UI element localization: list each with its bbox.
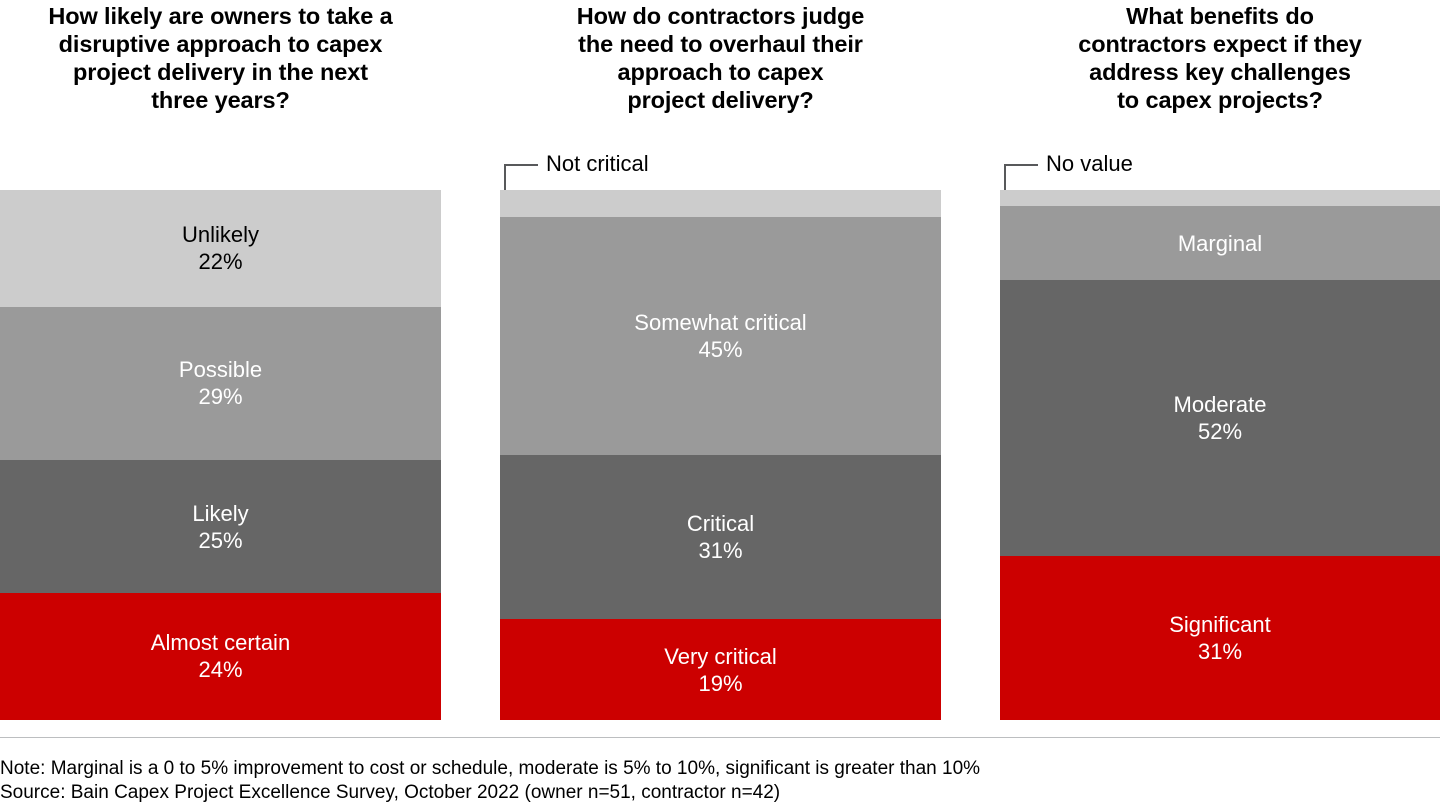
chart-page: How likely are owners to take a disrupti…: [0, 0, 1440, 810]
footer: Note: Marginal is a 0 to 5% improvement …: [0, 757, 1440, 805]
bar-segment: Very critical19%: [500, 619, 941, 720]
bar-segment: Somewhat critical45%: [500, 217, 941, 456]
bar-segment-label: Almost certain: [151, 629, 290, 656]
footnote-source: Source: Bain Capex Project Excellence Su…: [0, 781, 1440, 805]
panel-title-2: How do contractors judge the need to ove…: [500, 0, 941, 114]
bar-segment-value: 31%: [1198, 638, 1242, 665]
bar-segment: Almost certain24%: [0, 593, 441, 720]
panel-contractors-overhaul: How do contractors judge the need to ove…: [500, 0, 941, 722]
bar-segment: Likely25%: [0, 460, 441, 593]
bar-segment-label: Very critical: [664, 643, 776, 670]
stacked-bar-2: Somewhat critical45%Critical31%Very crit…: [500, 190, 941, 720]
bar-segment-label: Somewhat critical: [634, 309, 806, 336]
panel-owners-disruptive: How likely are owners to take a disrupti…: [0, 0, 441, 722]
bar-segment-value: 52%: [1198, 418, 1242, 445]
bar-segment: Possible29%: [0, 307, 441, 461]
bar-segment: Marginal: [1000, 206, 1440, 280]
bar-segment-value: 24%: [198, 656, 242, 683]
bar-segment-value: 19%: [698, 670, 742, 697]
callout-label-no-value: No value: [1046, 151, 1133, 177]
bar-segment-value: 25%: [198, 527, 242, 554]
bar-segment: Unlikely22%: [0, 190, 441, 307]
callout-label-not-critical: Not critical: [546, 151, 649, 177]
bar-segment: Critical31%: [500, 455, 941, 619]
bar-segment: [1000, 190, 1440, 206]
bar-segment: Significant31%: [1000, 556, 1440, 720]
panel-contractor-benefits: What benefits do contractors expect if t…: [1000, 0, 1440, 722]
bar-segment-label: Possible: [179, 356, 262, 383]
footnote-note: Note: Marginal is a 0 to 5% improvement …: [0, 757, 1440, 781]
bar-segment-label: Likely: [192, 500, 248, 527]
bar-segment-value: 45%: [698, 336, 742, 363]
footer-divider: [0, 737, 1440, 738]
stacked-bar-3: MarginalModerate52%Significant31%: [1000, 190, 1440, 720]
bar-segment-label: Unlikely: [182, 221, 259, 248]
panel-title-3: What benefits do contractors expect if t…: [1000, 0, 1440, 114]
callout-leader-horizontal: [504, 164, 538, 166]
bar-segment: [500, 190, 941, 217]
bar-segment-value: 22%: [198, 248, 242, 275]
bar-segment-label: Significant: [1169, 611, 1271, 638]
bar-segment-label: Moderate: [1174, 391, 1267, 418]
stacked-bar-1: Unlikely22%Possible29%Likely25%Almost ce…: [0, 190, 441, 720]
bar-segment: Moderate52%: [1000, 280, 1440, 556]
bar-segment-value: 29%: [198, 383, 242, 410]
bar-segment-label: Marginal: [1178, 230, 1262, 257]
bar-segment-value: 31%: [698, 537, 742, 564]
panels-row: How likely are owners to take a disrupti…: [0, 0, 1440, 722]
bar-segment-label: Critical: [687, 510, 754, 537]
callout-leader-horizontal: [1004, 164, 1038, 166]
panel-title-1: How likely are owners to take a disrupti…: [0, 0, 441, 114]
